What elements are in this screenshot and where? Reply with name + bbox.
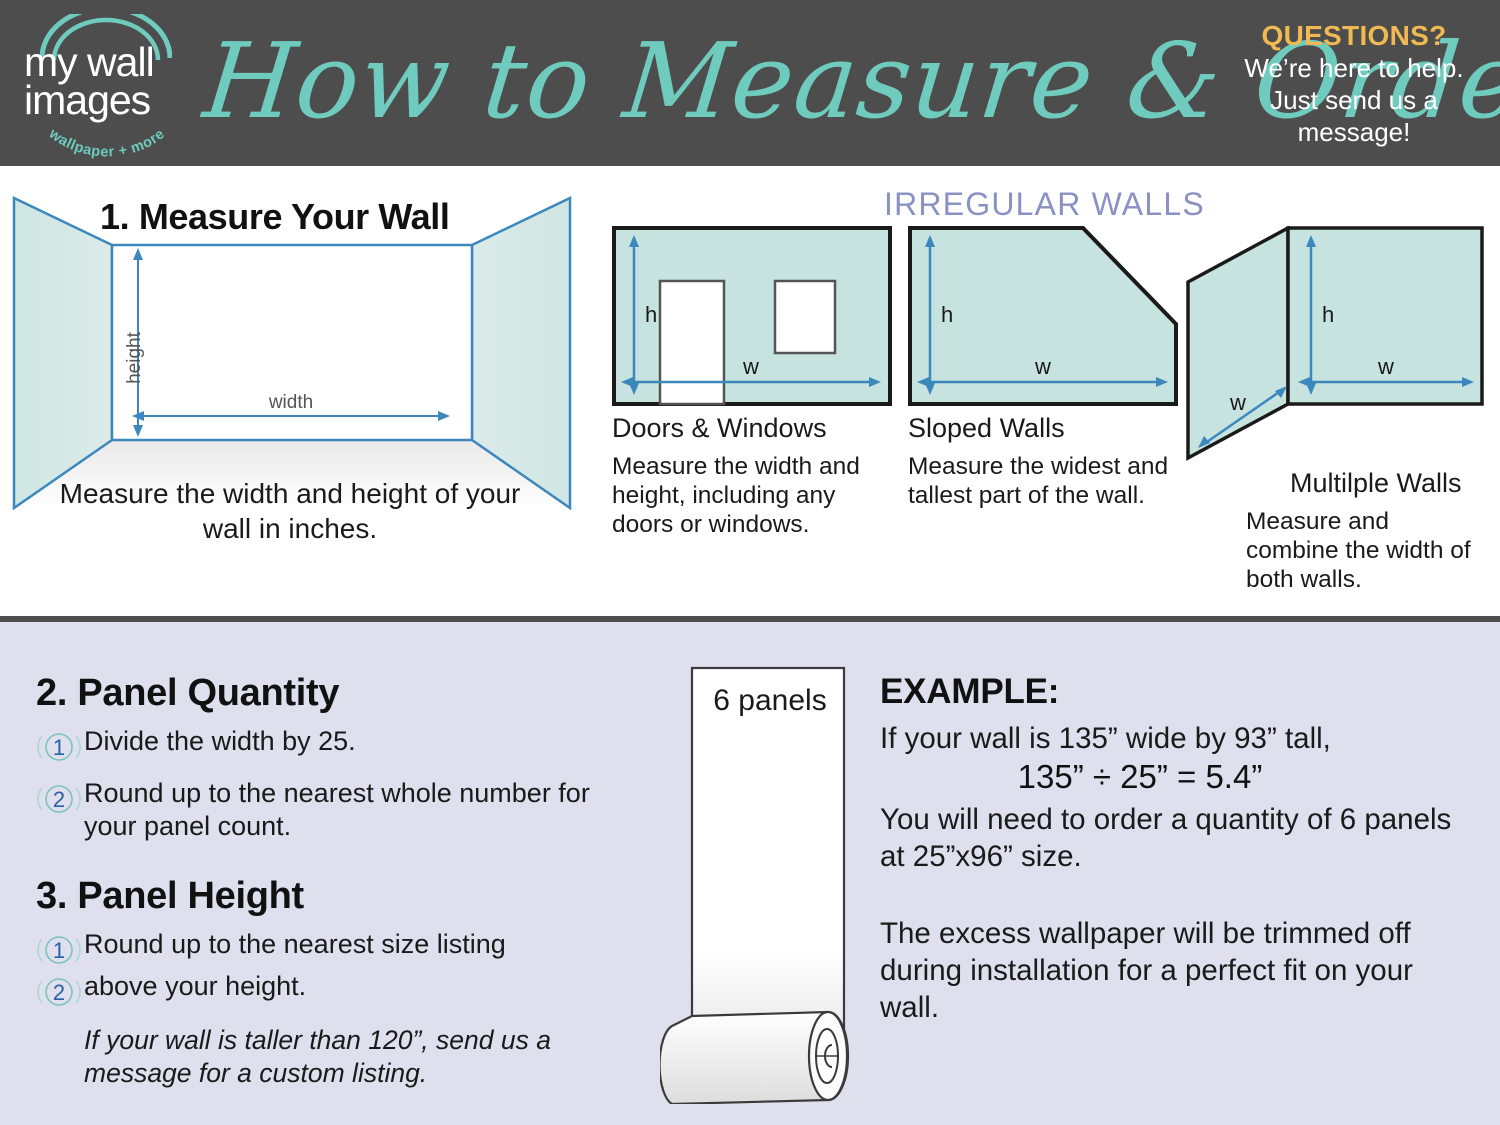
number-badge-2: 2: [36, 972, 82, 1012]
questions-block: QUESTIONS? We’re here to help. Just send…: [1220, 20, 1488, 148]
step3-title: 3. Panel Height: [36, 875, 596, 918]
number-badge-text: 2: [53, 787, 65, 812]
step3-note: If your wall is taller than 120”, send u…: [84, 1024, 596, 1090]
step2-item-2: 2 Round up to the nearest whole number f…: [36, 777, 596, 843]
irregular-label-3: Multilple Walls: [1290, 467, 1486, 499]
sloped-walls-diagram: h w: [908, 226, 1180, 406]
roll-svg: [660, 664, 865, 1104]
example-block: EXAMPLE: If your wall is 135” wide by 93…: [880, 672, 1480, 1026]
step3-text-2: above your height.: [82, 970, 306, 1003]
irregular-desc-3: Measure and combine the width of both wa…: [1246, 507, 1486, 594]
header-bar: my wall images wallpaper + more How to M…: [0, 0, 1500, 166]
number-badge-2: 2: [36, 779, 82, 819]
irregular-item-sloped-walls: h w Sloped Walls Measure the widest and …: [908, 226, 1193, 510]
number-badge-1: 1: [36, 930, 82, 970]
example-equation: 135” ÷ 25” = 5.4”: [880, 757, 1480, 797]
step1-caption: Measure the width and height of your wal…: [55, 476, 525, 546]
h-label: h: [645, 302, 657, 327]
order-section: 2. Panel Quantity 1 Divide the width by …: [0, 616, 1500, 1125]
ripple-number-icon: 2: [36, 972, 82, 1012]
step3-item-1: 1 Round up to the nearest size listing: [36, 928, 596, 970]
w-label-angled: w: [1229, 390, 1246, 415]
w-label: w: [742, 354, 759, 379]
irregular-label-2: Sloped Walls: [908, 412, 1193, 444]
example-heading: EXAMPLE:: [880, 672, 1480, 712]
step2-title: 2. Panel Quantity: [36, 672, 596, 715]
step2-text-1: Divide the width by 25.: [82, 725, 356, 758]
step2-block: 2. Panel Quantity 1 Divide the width by …: [36, 672, 596, 843]
roll-panel-count-label: 6 panels: [690, 684, 850, 718]
brand-logo[interactable]: my wall images wallpaper + more: [18, 10, 193, 160]
irregular-label-1: Doors & Windows: [612, 412, 897, 444]
questions-body: We’re here to help. Just send us a messa…: [1220, 52, 1488, 148]
example-spacer: [880, 875, 1480, 911]
example-line-3: The excess wallpaper will be trimmed off…: [880, 915, 1480, 1026]
logo-tagline: wallpaper + more: [32, 114, 182, 162]
step2-item-1: 1 Divide the width by 25.: [36, 725, 596, 767]
irregular-walls-heading: IRREGULAR WALLS: [884, 186, 1205, 223]
number-badge-text: 2: [53, 980, 65, 1005]
ripple-number-icon: 1: [36, 930, 82, 970]
number-badge-text: 1: [53, 938, 65, 963]
svg-text:wallpaper + more: wallpaper + more: [45, 125, 168, 160]
room-diagram: height width: [12, 190, 592, 520]
page-title: How to Measure & Order: [196, 0, 1214, 166]
logo-tagline-text: wallpaper + more: [45, 125, 168, 160]
ripple-number-icon: 2: [36, 779, 82, 819]
irregular-desc-1: Measure the width and height, including …: [612, 452, 897, 539]
height-dimension-label: height: [124, 331, 145, 383]
multiple-walls-diagram: h w w: [1186, 226, 1486, 461]
example-line-2: You will need to order a quantity of 6 p…: [880, 801, 1480, 875]
step3-item-2: 2 above your height.: [36, 970, 596, 1012]
questions-heading: QUESTIONS?: [1220, 20, 1488, 52]
h-label: h: [1322, 302, 1334, 327]
measure-section: height width 1. Measure Your Wall Measur…: [0, 166, 1500, 616]
example-line-1: If your wall is 135” wide by 93” tall,: [880, 720, 1480, 757]
w-label: w: [1034, 354, 1051, 379]
irregular-item-multiple-walls: h w w Multilple Walls Measure and combin…: [1186, 226, 1486, 594]
w-label: w: [1377, 354, 1394, 379]
logo-line-1: my wall: [24, 42, 194, 82]
doors-windows-diagram: h w: [612, 226, 892, 406]
step3-text-1: Round up to the nearest size listing: [82, 928, 506, 961]
number-badge-1: 1: [36, 727, 82, 767]
ripple-number-icon: 1: [36, 727, 82, 767]
step2-text-2: Round up to the nearest whole number for…: [82, 777, 596, 843]
h-label: h: [941, 302, 953, 327]
number-badge-text: 1: [53, 735, 65, 760]
wallpaper-roll-illustration: [660, 664, 865, 1104]
irregular-desc-2: Measure the widest and tallest part of t…: [908, 452, 1193, 510]
step3-block: 3. Panel Height 1 Round up to the neares…: [36, 875, 596, 1090]
width-dimension-label: width: [268, 392, 313, 413]
irregular-item-doors-windows: h w Doors & Windows Measure the width an…: [612, 226, 897, 539]
step1-title: 1. Measure Your Wall: [100, 196, 449, 238]
